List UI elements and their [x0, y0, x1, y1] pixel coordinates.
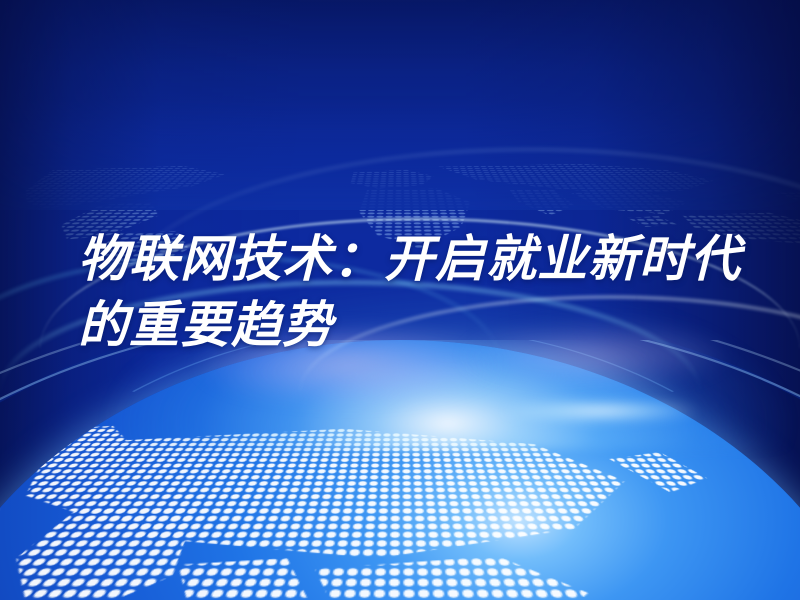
title-line-2: 的重要趋势 [78, 292, 738, 358]
poster-canvas: 物联网技术：开启就业新时代 的重要趋势 [0, 0, 800, 600]
title-line-1: 物联网技术：开启就业新时代 [78, 226, 738, 292]
glow-hotspot [470, 398, 730, 424]
page-title: 物联网技术：开启就业新时代 的重要趋势 [78, 226, 738, 358]
